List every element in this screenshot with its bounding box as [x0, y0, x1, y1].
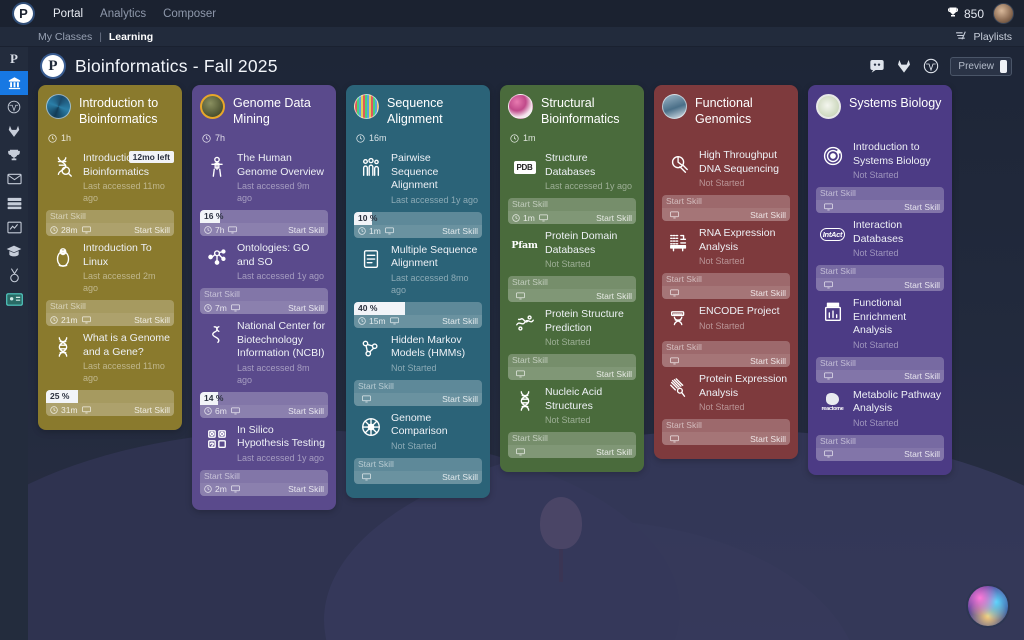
column-duration: 1h — [48, 133, 174, 143]
start-skill-link[interactable]: Start Skill — [288, 303, 324, 313]
skill-progress[interactable]: 25 %31mStart Skill — [46, 390, 174, 416]
progress-label: 10 % — [358, 213, 377, 224]
skill-title: National Center for Biotechnology Inform… — [237, 320, 326, 361]
classes-icon — [7, 76, 22, 91]
monitor-icon — [82, 226, 91, 234]
skill-card[interactable]: Pairwise Sequence AlignmentLast accessed… — [354, 150, 482, 238]
breadcrumb-learning[interactable]: Learning — [109, 31, 153, 43]
skill-progress[interactable]: Start SkillStart Skill — [354, 458, 482, 484]
skill-progress[interactable]: Start Skill7mStart Skill — [200, 288, 328, 314]
progress-label: Start Skill — [820, 188, 856, 199]
monitor-icon — [231, 304, 240, 312]
skill-progress[interactable]: Start SkillStart Skill — [816, 265, 944, 291]
skill-row[interactable]: PfamProtein Domain DatabasesNot Started — [508, 228, 636, 273]
skill-meta: Start Skill — [662, 354, 790, 367]
start-skill-link[interactable]: Start Skill — [904, 280, 940, 290]
column-title: Genome Data Mining — [233, 94, 328, 127]
progress-track: Start Skill — [662, 195, 790, 208]
network-nodes-icon — [203, 242, 230, 272]
sidebar-item-graduation[interactable] — [0, 239, 28, 263]
skill-status: Last accessed 1y ago — [391, 194, 480, 206]
breadcrumb-my-classes[interactable]: My Classes — [38, 31, 92, 43]
skill-row[interactable]: Nucleic Acid StructuresNot Started — [508, 384, 636, 429]
progress-label: 14 % — [204, 393, 223, 404]
skill-status: Not Started — [699, 401, 788, 413]
skill-status: Last accessed 1y ago — [545, 180, 634, 192]
preview-toggle[interactable]: Preview — [950, 57, 1012, 76]
column-title: Introduction to Bioinformatics — [79, 94, 174, 127]
skill-progress[interactable]: Start Skill28mStart Skill — [46, 210, 174, 236]
start-skill-link[interactable]: Start Skill — [288, 225, 324, 235]
progress-track: Start Skill — [816, 435, 944, 448]
skill-meta: 21mStart Skill — [46, 313, 174, 326]
column-header: Functional Genomics — [662, 94, 790, 127]
breadcrumb: My Classes | Learning — [38, 31, 153, 43]
bar-chart-icon — [819, 297, 846, 327]
skill-progress[interactable]: 14 %6mStart Skill — [200, 392, 328, 418]
skill-card[interactable]: Introduction To LinuxLast accessed 2m ag… — [46, 240, 174, 326]
page-header: P Bioinformatics - Fall 2025 Preview — [28, 47, 1024, 85]
start-skill-link[interactable]: Start Skill — [442, 394, 478, 404]
progress-track: 25 % — [46, 390, 174, 403]
breadcrumb-bar: My Classes | Learning Playlists — [0, 27, 1024, 47]
skill-title: Structure Databases — [545, 152, 634, 179]
protein-render-thumb — [508, 94, 533, 119]
monitor-icon — [670, 211, 679, 219]
skill-progress[interactable]: Start SkillStart Skill — [816, 357, 944, 383]
intact-logo-icon: IntAct — [819, 219, 846, 249]
progress-track: Start Skill — [508, 354, 636, 367]
skill-row[interactable]: In Silico Hypothesis TestingLast accesse… — [200, 422, 328, 467]
rock-sample-thumb — [200, 94, 225, 119]
skill-row[interactable]: Multiple Sequence AlignmentLast accessed… — [354, 242, 482, 299]
skill-meta: 7mStart Skill — [200, 301, 328, 314]
skill-card[interactable]: Hidden Markov Models (HMMs)Not StartedSt… — [354, 332, 482, 406]
skill-meta: Start Skill — [508, 445, 636, 458]
progress-label: Start Skill — [204, 289, 240, 300]
monitor-icon — [824, 372, 833, 380]
monitor-icon — [385, 227, 394, 235]
skill-row[interactable]: ENCODE ProjectNot Started — [662, 303, 790, 338]
skill-progress[interactable]: Start Skill21mStart Skill — [46, 300, 174, 326]
skill-status: Last accessed 1y ago — [237, 270, 326, 282]
skill-meta: Start Skill — [508, 289, 636, 302]
skill-card[interactable]: PDBStructure DatabasesLast accessed 1y a… — [508, 150, 636, 224]
sidebar-item-analytics[interactable] — [0, 215, 28, 239]
skill-status: Not Started — [853, 417, 942, 429]
skill-card[interactable]: Multiple Sequence AlignmentLast accessed… — [354, 242, 482, 328]
skill-row[interactable]: RNA Expression AnalysisNot Started — [662, 225, 790, 270]
start-skill-link[interactable]: Start Skill — [596, 447, 632, 457]
skill-row[interactable]: Introduction To LinuxLast accessed 2m ag… — [46, 240, 174, 297]
course-column: Introduction to Bioinformatics1hIntroduc… — [38, 85, 182, 430]
skill-progress[interactable]: Start SkillStart Skill — [508, 354, 636, 380]
sidebar-item-medal[interactable] — [0, 263, 28, 287]
skill-duration: 1m — [512, 213, 535, 223]
column-duration-value: 1h — [61, 133, 71, 143]
left-rail: ❯ P — [0, 27, 28, 640]
sidebar-item-mail[interactable] — [0, 167, 28, 191]
skill-duration: 7m — [204, 303, 227, 313]
course-column: Genome Data Mining7hThe Human Genome Ove… — [192, 85, 336, 510]
start-skill-link[interactable]: Start Skill — [904, 202, 940, 212]
column-title: Functional Genomics — [695, 94, 790, 127]
skill-card[interactable]: Genome ComparisonNot StartedStart SkillS… — [354, 410, 482, 484]
trophy-icon — [947, 6, 959, 21]
skill-title: Genome Comparison — [391, 412, 480, 439]
progress-label: Start Skill — [358, 381, 394, 392]
skill-status: Not Started — [699, 255, 788, 267]
skill-meta: Start Skill — [354, 471, 482, 484]
course-column: Structural Bioinformatics1mPDBStructure … — [500, 85, 644, 472]
progress-label: Start Skill — [512, 433, 548, 444]
skill-duration-value: 1m — [523, 213, 535, 223]
skill-row[interactable]: reactomeMetabolic Pathway AnalysisNot St… — [816, 387, 944, 432]
skill-row[interactable]: National Center for Biotechnology Inform… — [200, 318, 328, 389]
skill-status: Not Started — [853, 247, 942, 259]
column-duration: 1m — [510, 133, 636, 143]
top-nav-portal[interactable]: Portal — [53, 8, 83, 20]
sidebar-item-portal[interactable]: P — [0, 47, 28, 71]
skill-card[interactable]: PfamProtein Domain DatabasesNot StartedS… — [508, 228, 636, 302]
column-duration-value: 1m — [523, 133, 536, 143]
brand-logo[interactable]: P — [14, 4, 33, 23]
skill-title: Interaction Databases — [853, 219, 942, 246]
progress-label: Start Skill — [820, 436, 856, 447]
progress-label: Start Skill — [512, 355, 548, 366]
skill-title: Multiple Sequence Alignment — [391, 244, 480, 271]
skill-duration: 28m — [50, 225, 78, 235]
skill-status: Last accessed 8mo ago — [391, 272, 480, 296]
skill-title: ENCODE Project — [699, 305, 788, 319]
sidebar-item-classes[interactable] — [0, 71, 28, 95]
skill-row[interactable]: What is a Genome and a Gene?Last accesse… — [46, 330, 174, 387]
skill-progress[interactable]: 10 %1mStart Skill — [354, 212, 482, 238]
progress-track: 10 % — [354, 212, 482, 225]
skill-status: Not Started — [545, 414, 634, 426]
start-skill-link[interactable]: Start Skill — [134, 315, 170, 325]
skill-card[interactable]: Protein Expression AnalysisNot StartedSt… — [662, 371, 790, 445]
start-skill-link[interactable]: Start Skill — [750, 356, 786, 366]
skill-duration-value: 2m — [215, 484, 227, 494]
profile-avatar-floating[interactable] — [966, 584, 1010, 628]
column-header: Structural Bioinformatics — [508, 94, 636, 127]
graduation-cap-icon — [6, 245, 22, 257]
skill-title: Protein Domain Databases — [545, 230, 634, 257]
course-badge: P — [42, 55, 64, 77]
skill-title: Nucleic Acid Structures — [545, 386, 634, 413]
skill-card[interactable]: High Throughput DNA SequencingNot Starte… — [662, 147, 790, 221]
progress-track: Start Skill — [662, 273, 790, 286]
points-display: 850 — [947, 6, 984, 21]
user-avatar[interactable] — [993, 3, 1014, 24]
skill-progress[interactable]: Start SkillStart Skill — [354, 380, 482, 406]
start-skill-link[interactable]: Start Skill — [750, 288, 786, 298]
skill-meta: Start Skill — [816, 200, 944, 213]
skill-row[interactable]: High Throughput DNA SequencingNot Starte… — [662, 147, 790, 192]
start-skill-link[interactable]: Start Skill — [596, 291, 632, 301]
skill-card[interactable]: Functional Enrichment AnalysisNot Starte… — [816, 295, 944, 383]
progress-label: 16 % — [204, 211, 223, 222]
discord-icon[interactable] — [869, 58, 885, 74]
progress-label: Start Skill — [512, 277, 548, 288]
progress-label: Start Skill — [666, 420, 702, 431]
skill-card[interactable]: IntActInteraction DatabasesNot StartedSt… — [816, 217, 944, 291]
portal-icon: P — [10, 51, 18, 67]
pfam-logo-icon: Pfam — [511, 230, 538, 260]
skill-title: Protein Structure Prediction — [545, 308, 634, 335]
skill-status: Last accessed 1y ago — [237, 452, 326, 464]
top-right-group: 850 — [947, 3, 1024, 24]
column-header: Sequence Alignment — [354, 94, 482, 127]
start-skill-link[interactable]: Start Skill — [596, 213, 632, 223]
skill-row[interactable]: Hidden Markov Models (HMMs)Not Started — [354, 332, 482, 377]
sequencer-icon — [665, 149, 692, 179]
progress-label: Start Skill — [358, 459, 394, 470]
skill-status: Last accessed 2m ago — [83, 270, 172, 294]
skill-title: RNA Expression Analysis — [699, 227, 788, 254]
progress-label: Start Skill — [666, 196, 702, 207]
skill-card[interactable]: Introduction to BioinformaticsLast acces… — [46, 150, 174, 236]
skill-title: Metabolic Pathway Analysis — [853, 389, 942, 416]
skill-progress[interactable]: Start SkillStart Skill — [662, 419, 790, 445]
skill-row[interactable]: Pairwise Sequence AlignmentLast accessed… — [354, 150, 482, 209]
monitor-icon — [670, 289, 679, 297]
playlists-icon — [955, 30, 968, 44]
gitlab-icon — [7, 124, 21, 138]
column-header: Genome Data Mining — [200, 94, 328, 127]
progress-track: Start Skill — [46, 210, 174, 223]
skill-duration: 15m — [358, 316, 386, 326]
hypothesis-grid-icon — [203, 424, 230, 454]
skill-duration-value: 31m — [61, 405, 78, 415]
start-skill-link[interactable]: Start Skill — [442, 226, 478, 236]
preview-label: Preview — [958, 61, 994, 72]
human-body-icon — [203, 152, 230, 182]
skill-card[interactable]: Introduction to Systems BiologyNot Start… — [816, 139, 944, 213]
skill-row[interactable]: Ontologies: GO and SOLast accessed 1y ag… — [200, 240, 328, 285]
column-title: Systems Biology — [849, 94, 941, 111]
skill-row[interactable]: Functional Enrichment AnalysisNot Starte… — [816, 295, 944, 354]
skill-meta: Start Skill — [816, 370, 944, 383]
skill-title: Introduction to Systems Biology — [853, 141, 942, 168]
skill-card[interactable]: RNA Expression AnalysisNot StartedStart … — [662, 225, 790, 299]
skill-meta: 31mStart Skill — [46, 403, 174, 416]
skill-title: Pairwise Sequence Alignment — [391, 152, 480, 193]
network-map-thumb — [816, 94, 841, 119]
skill-status: Last accessed 11mo ago — [83, 180, 172, 204]
skill-progress[interactable]: Start SkillStart Skill — [662, 195, 790, 221]
skill-card[interactable]: Ontologies: GO and SOLast accessed 1y ag… — [200, 240, 328, 314]
progress-track: Start Skill — [508, 198, 636, 211]
progress-track: Start Skill — [662, 341, 790, 354]
skill-row[interactable]: The Human Genome OverviewLast accessed 9… — [200, 150, 328, 207]
skill-status: Last accessed 9m ago — [237, 180, 326, 204]
skill-meta: Start Skill — [662, 286, 790, 299]
skill-meta: Start Skill — [816, 448, 944, 461]
skill-title: Ontologies: GO and SO — [237, 242, 326, 269]
start-skill-link[interactable]: Start Skill — [750, 210, 786, 220]
skill-duration: 1m — [358, 226, 381, 236]
progress-track: 40 % — [354, 302, 482, 315]
progress-track: Start Skill — [662, 419, 790, 432]
progress-label: 40 % — [358, 303, 377, 314]
progress-label: Start Skill — [666, 342, 702, 353]
skill-card[interactable]: ENCODE ProjectNot StartedStart SkillStar… — [662, 303, 790, 367]
app-root: P Portal Analytics Composer 850 My Class… — [0, 0, 1024, 640]
skill-card[interactable]: The Human Genome OverviewLast accessed 9… — [200, 150, 328, 236]
wordpress-icon — [7, 100, 21, 114]
monitor-icon — [228, 226, 237, 234]
skill-row[interactable]: Protein Structure PredictionNot Started — [508, 306, 636, 351]
people-pair-icon — [357, 152, 384, 182]
top-nav-analytics[interactable]: Analytics — [100, 8, 146, 20]
dna-magnifier-icon — [49, 152, 76, 182]
skill-progress[interactable]: Start SkillStart Skill — [816, 187, 944, 213]
skill-card[interactable]: reactomeMetabolic Pathway AnalysisNot St… — [816, 387, 944, 461]
trophy-icon — [7, 148, 21, 162]
sidebar-item-badge-card[interactable] — [0, 287, 28, 311]
skill-duration-value: 21m — [61, 315, 78, 325]
skill-row[interactable]: Protein Expression AnalysisNot Started — [662, 371, 790, 416]
skill-card[interactable]: What is a Genome and a Gene?Last accesse… — [46, 330, 174, 416]
server-icon — [7, 197, 22, 210]
monitor-icon — [516, 448, 525, 456]
skill-row[interactable]: Genome ComparisonNot Started — [354, 410, 482, 455]
skill-card[interactable]: Protein Structure PredictionNot StartedS… — [508, 306, 636, 380]
start-skill-link[interactable]: Start Skill — [904, 449, 940, 459]
skill-duration: 7h — [204, 225, 224, 235]
skill-progress[interactable]: Start SkillStart Skill — [508, 276, 636, 302]
skill-status: Not Started — [699, 177, 788, 189]
skill-meta: Start Skill — [508, 367, 636, 380]
skill-progress[interactable]: Start SkillStart Skill — [662, 341, 790, 367]
progress-track: Start Skill — [816, 187, 944, 200]
skill-title: What is a Genome and a Gene? — [83, 332, 172, 359]
sidebar-item-gitlab[interactable] — [0, 119, 28, 143]
skill-progress[interactable]: 16 %7hStart Skill — [200, 210, 328, 236]
column-header: Systems Biology — [816, 94, 944, 119]
skill-progress[interactable]: Start SkillStart Skill — [816, 435, 944, 461]
skill-title: The Human Genome Overview — [237, 152, 326, 179]
top-bar: P Portal Analytics Composer 850 — [0, 0, 1024, 27]
sidebar-item-trophy[interactable] — [0, 143, 28, 167]
skill-progress[interactable]: Start Skill1mStart Skill — [508, 198, 636, 224]
skill-status: Last accessed 11mo ago — [83, 360, 172, 384]
start-skill-link[interactable]: Start Skill — [596, 369, 632, 379]
start-skill-link[interactable]: Start Skill — [750, 434, 786, 444]
skill-card[interactable]: National Center for Biotechnology Inform… — [200, 318, 328, 418]
progress-label: Start Skill — [820, 266, 856, 277]
column-header: Introduction to Bioinformatics — [46, 94, 174, 127]
skill-meta: Start Skill — [354, 393, 482, 406]
skill-status: Not Started — [853, 339, 942, 351]
skill-row[interactable]: PDBStructure DatabasesLast accessed 1y a… — [508, 150, 636, 195]
skill-title: High Throughput DNA Sequencing — [699, 149, 788, 176]
start-skill-link[interactable]: Start Skill — [134, 405, 170, 415]
skill-duration: 6m — [204, 406, 227, 416]
column-title: Structural Bioinformatics — [541, 94, 636, 127]
preview-knob[interactable] — [1000, 60, 1007, 73]
skill-card[interactable]: Nucleic Acid StructuresNot StartedStart … — [508, 384, 636, 458]
start-skill-link[interactable]: Start Skill — [288, 484, 324, 494]
skill-progress[interactable]: Start Skill2mStart Skill — [200, 470, 328, 496]
sidebar-item-wordpress[interactable] — [0, 95, 28, 119]
progress-track: Start Skill — [354, 380, 482, 393]
skill-card[interactable]: In Silico Hypothesis TestingLast accesse… — [200, 422, 328, 496]
start-skill-link[interactable]: Start Skill — [904, 371, 940, 381]
start-skill-link[interactable]: Start Skill — [442, 472, 478, 482]
start-skill-link[interactable]: Start Skill — [134, 225, 170, 235]
sidebar-item-server[interactable] — [0, 191, 28, 215]
badge-card-icon — [6, 293, 23, 306]
column-title: Sequence Alignment — [387, 94, 482, 127]
progress-track: 14 % — [200, 392, 328, 405]
header-tools: Preview — [869, 57, 1024, 76]
skill-meta: 1mStart Skill — [508, 211, 636, 224]
progress-label: Start Skill — [820, 358, 856, 369]
atom-orbit-icon — [819, 141, 846, 171]
progress-track: Start Skill — [200, 288, 328, 301]
skill-title: In Silico Hypothesis Testing — [237, 424, 326, 451]
monitor-icon — [516, 370, 525, 378]
skill-duration-value: 1m — [369, 226, 381, 236]
start-skill-link[interactable]: Start Skill — [442, 316, 478, 326]
monitor-icon — [82, 406, 91, 414]
column-duration-value: 7h — [215, 133, 225, 143]
top-nav: Portal Analytics Composer — [53, 8, 216, 20]
monitor-icon — [824, 450, 833, 458]
skill-duration-value: 7h — [215, 225, 224, 235]
ncbi-logo-icon — [203, 320, 230, 350]
skill-meta: Start Skill — [816, 278, 944, 291]
monitor-icon — [362, 395, 371, 403]
skill-status: Not Started — [391, 440, 480, 452]
skill-meta: 1mStart Skill — [354, 225, 482, 238]
microarray-icon — [665, 227, 692, 257]
progress-label: 25 % — [50, 391, 69, 402]
top-nav-composer[interactable]: Composer — [163, 8, 216, 20]
playlists-button[interactable]: Playlists — [955, 30, 1012, 44]
skill-status: Last accessed 8m ago — [237, 362, 326, 386]
gitlab-icon[interactable] — [896, 58, 912, 74]
skill-row[interactable]: Introduction to Systems BiologyNot Start… — [816, 139, 944, 184]
circuit-board-thumb — [46, 94, 71, 119]
skill-meta: 2mStart Skill — [200, 483, 328, 496]
start-skill-link[interactable]: Start Skill — [288, 406, 324, 416]
skill-row[interactable]: Introduction to BioinformaticsLast acces… — [46, 150, 174, 207]
mail-icon — [7, 173, 22, 185]
course-column: Functional GenomicsHigh Throughput DNA S… — [654, 85, 798, 459]
wordpress-icon[interactable] — [923, 58, 939, 74]
skill-progress[interactable]: 40 %15mStart Skill — [354, 302, 482, 328]
progress-label: Start Skill — [50, 301, 86, 312]
skill-title: Functional Enrichment Analysis — [853, 297, 942, 338]
skill-progress[interactable]: Start SkillStart Skill — [662, 273, 790, 299]
medal-icon — [8, 268, 21, 283]
skill-title: Hidden Markov Models (HMMs) — [391, 334, 480, 361]
skill-meta: Start Skill — [662, 432, 790, 445]
dna-helix-icon — [511, 386, 538, 416]
progress-track: Start Skill — [354, 458, 482, 471]
monitor-icon — [390, 317, 399, 325]
progress-track: Start Skill — [508, 276, 636, 289]
skill-row[interactable]: IntActInteraction DatabasesNot Started — [816, 217, 944, 262]
skill-progress[interactable]: Start SkillStart Skill — [508, 432, 636, 458]
document-lines-icon — [357, 244, 384, 274]
gel-blot-icon — [665, 373, 692, 403]
page-title: Bioinformatics - Fall 2025 — [75, 56, 278, 77]
